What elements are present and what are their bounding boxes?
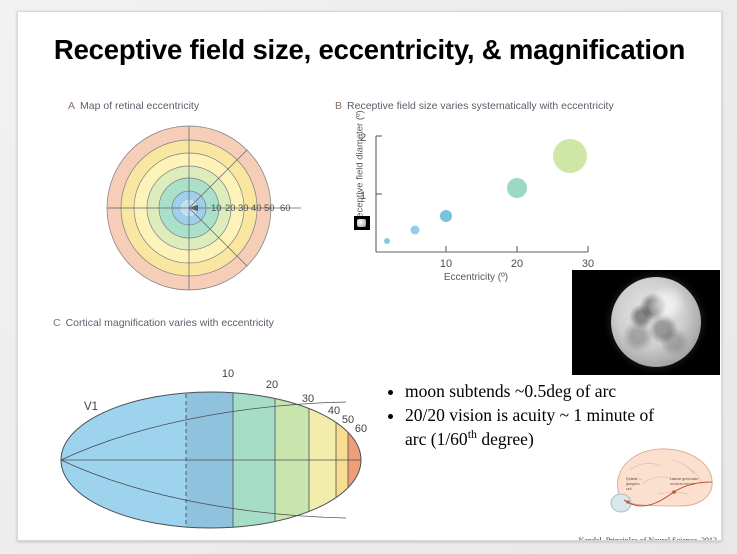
panel-a-caption-text: Map of retinal eccentricity [80, 100, 199, 112]
data-point [384, 238, 390, 244]
x-ticklabel-20: 20 [511, 258, 523, 270]
ring-label-50: 50 [264, 203, 275, 214]
band-label-40: 40 [328, 405, 340, 417]
x-ticklabel-30: 30 [582, 258, 594, 270]
panel-b-caption: BReceptive field size varies systematica… [335, 100, 614, 112]
citation-text: Kandel, Principles of Neural Science, 20… [557, 536, 717, 541]
ring-label-20: 20 [225, 203, 236, 214]
band-foveal [56, 382, 186, 532]
band-label-10: 10 [222, 368, 234, 380]
chart-x-axis-label: Eccentricity (º) [381, 272, 571, 283]
data-point [553, 139, 587, 173]
ganglion-label-l2: ganglion [626, 482, 640, 486]
moon-photo [572, 270, 720, 375]
slide-backdrop: Receptive field size, eccentricity, & ma… [0, 0, 737, 554]
ganglion-cell-dot [626, 500, 629, 503]
panel-b-letter: B [335, 100, 342, 112]
band-label-50: 50 [342, 414, 354, 426]
panel-c-letter: C [53, 317, 61, 329]
band-10 [186, 382, 233, 532]
data-point [507, 178, 527, 198]
data-point [440, 210, 452, 222]
v1-region-label: V1 [84, 401, 98, 413]
scatter-plot-area: 2 1 10 20 30 [346, 124, 596, 274]
lgn-label-l2: nucleus neuron [670, 482, 695, 486]
cortical-magnification-figure: V1 10 20 30 40 50 60 [56, 342, 386, 532]
mouse-cursor[interactable] [354, 216, 370, 230]
ring-label-60: 60 [280, 203, 291, 214]
ganglion-label-l3: cell [626, 487, 632, 491]
band-label-60: 60 [355, 423, 367, 435]
panel-c-caption: CCortical magnification varies with ecce… [53, 317, 274, 329]
ring-label-30: 30 [238, 203, 249, 214]
band-label-30: 30 [302, 393, 314, 405]
slide-canvas: Receptive field size, eccentricity, & ma… [17, 11, 722, 541]
x-ticklabel-10: 10 [440, 258, 452, 270]
panel-a-letter: A [68, 100, 75, 112]
brain-pathway-figure: Retinal ganglion cell Lateral geniculate… [596, 440, 722, 522]
retinal-eccentricity-map: 10 20 30 40 50 60 [101, 122, 316, 294]
data-point [411, 226, 420, 235]
page-title: Receptive field size, eccentricity, & ma… [18, 34, 721, 66]
moon-disc [611, 277, 701, 367]
lgn-label-l1: Lateral geniculate [670, 477, 698, 481]
bullet-2-sup: th [468, 427, 477, 441]
panel-a-caption: AMap of retinal eccentricity [68, 100, 199, 112]
lgn-synapse-dot [672, 490, 676, 494]
chart-y-axis-label: Receptive field diameter (º) [355, 108, 366, 228]
ring-label-10: 10 [211, 203, 222, 214]
ring-label-40: 40 [251, 203, 262, 214]
bullet-2-post: degree) [477, 429, 534, 449]
band-label-20: 20 [266, 379, 278, 391]
v1-color-bands [56, 382, 362, 532]
band-60 [348, 382, 362, 532]
list-item: moon subtends ~0.5deg of arc [405, 380, 664, 402]
receptive-field-scatter-chart: Receptive field diameter (º) 2 1 10 20 3… [346, 124, 606, 289]
panel-c-caption-text: Cortical magnification varies with eccen… [66, 317, 274, 329]
ganglion-label-l1: Retinal [626, 477, 637, 481]
panel-b-caption-text: Receptive field size varies systematical… [347, 100, 614, 112]
